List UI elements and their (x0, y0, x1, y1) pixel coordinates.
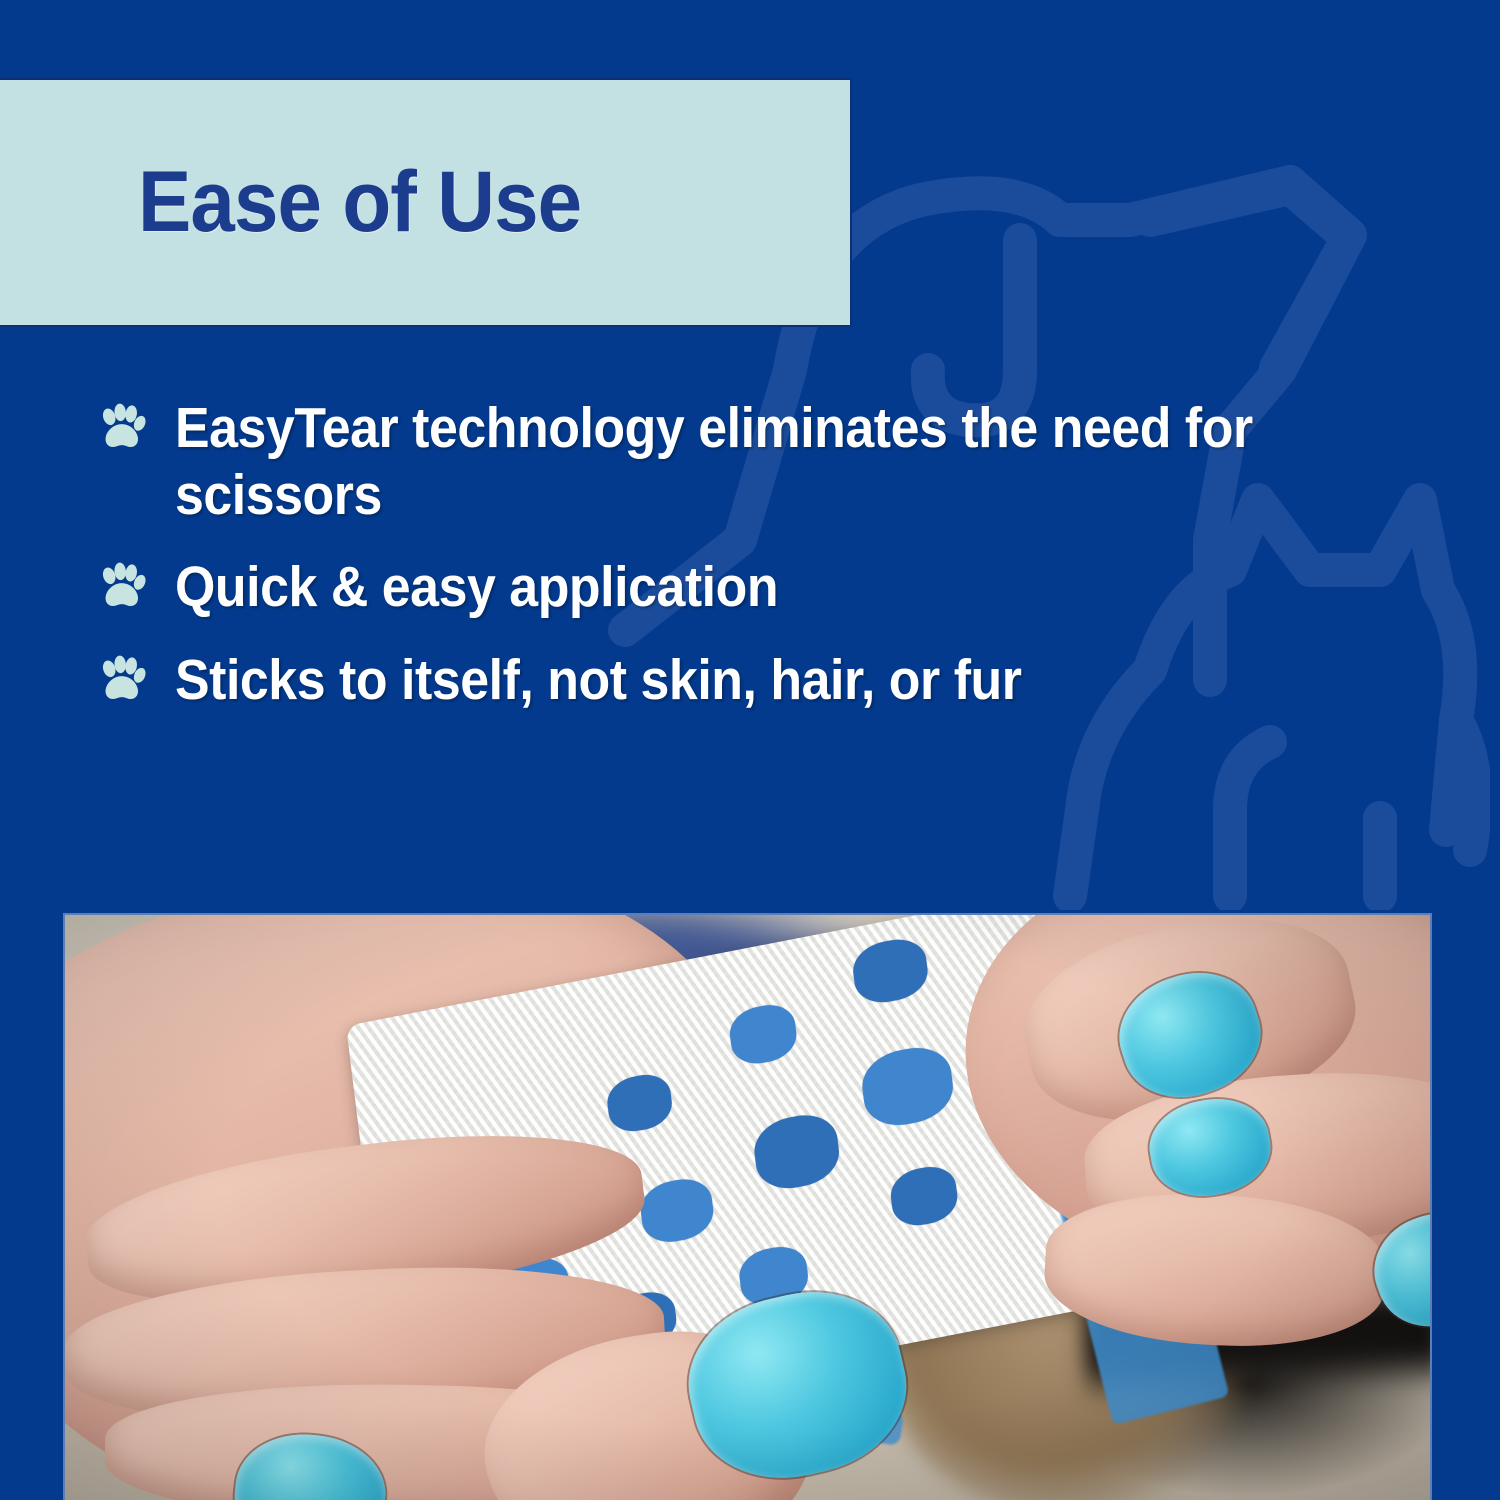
photo-vignette (65, 915, 1430, 1500)
paw-print-icon (95, 562, 147, 614)
list-item: Quick & easy application (95, 554, 1445, 621)
list-item: EasyTear technology eliminates the need … (95, 395, 1445, 528)
product-photo (65, 915, 1430, 1500)
title-banner: Ease of Use (0, 80, 850, 325)
page-title: Ease of Use (138, 162, 581, 244)
list-item-label: Quick & easy application (175, 554, 778, 621)
list-item: Sticks to itself, not skin, hair, or fur (95, 647, 1445, 714)
paw-print-icon (95, 655, 147, 707)
list-item-label: EasyTear technology eliminates the need … (175, 395, 1313, 528)
feature-list: EasyTear technology eliminates the need … (95, 395, 1445, 714)
infographic-panel: Ease of Use EasyTear technology eliminat… (0, 0, 1500, 1500)
list-item-label: Sticks to itself, not skin, hair, or fur (175, 647, 1021, 714)
paw-print-icon (95, 403, 147, 455)
